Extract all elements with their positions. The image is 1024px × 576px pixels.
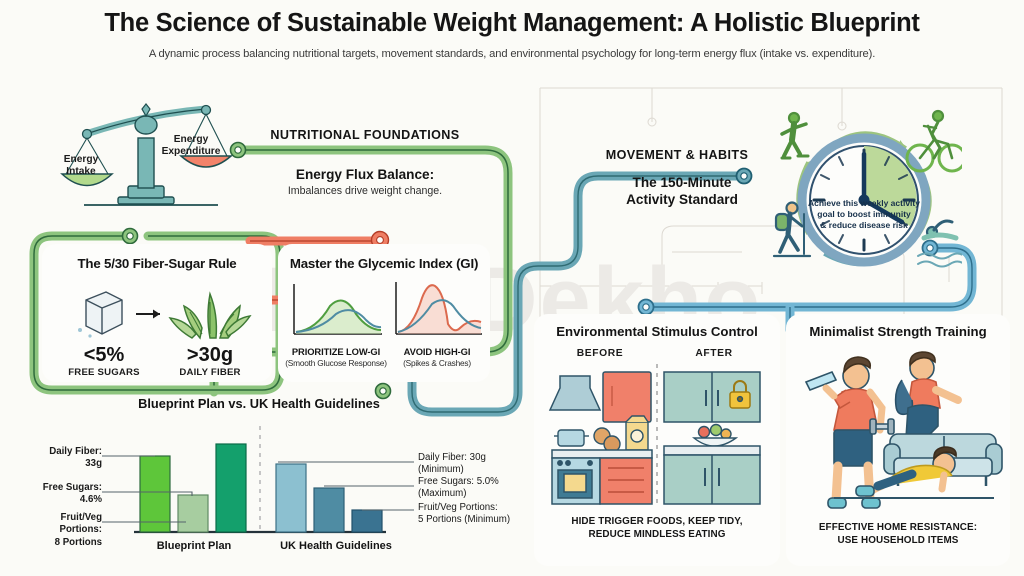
callout-blueprint-fruit-veg: Fruit/Veg Portions: 8 Portions — [16, 512, 102, 549]
fiber-sugar-rule-title: The 5/30 Fiber-Sugar Rule — [42, 256, 272, 271]
barchart-title: Blueprint Plan vs. UK Health Guidelines — [24, 396, 494, 411]
environmental-stimulus-control-panel[interactable]: Environmental Stimulus Control BEFORE AF… — [534, 314, 780, 566]
free-sugars-stat: <5% — [56, 344, 152, 367]
high-gi-caption: AVOID HIGH-GI — [386, 346, 488, 357]
callout-blueprint-fiber-line1: Daily Fiber: — [49, 446, 102, 457]
callout-uk-fruit-veg: Fruit/Veg Portions: 5 Portions (Minimum) — [418, 502, 530, 527]
energy-intake-label: Energy Intake — [48, 154, 114, 177]
stimulus-footer-line1: HIDE TRIGGER FOODS, KEEP TIDY, — [571, 516, 742, 527]
axis-label-blueprint-plan: Blueprint Plan — [136, 540, 252, 552]
callout-uk-free-sugars: Free Sugars: 5.0% (Maximum) — [418, 476, 524, 501]
clock-caption: Achieve this weekly activity goal to boo… — [794, 198, 934, 232]
minimalist-strength-training-panel[interactable]: Minimalist Strength Training — [786, 314, 1010, 566]
stimulus-panel-title: Environmental Stimulus Control — [534, 324, 780, 339]
callout-blueprint-sugars-line2: 4.6% — [80, 494, 102, 505]
stimulus-footer-line2: REDUCE MINDLESS EATING — [589, 529, 726, 540]
callout-blueprint-fruitveg-line1: Fruit/Veg Portions: — [59, 512, 102, 535]
energy-expenditure-label-line1: Energy — [174, 134, 209, 145]
strength-footer-line1: EFFECTIVE HOME RESISTANCE: — [819, 522, 977, 533]
activity-standard-line1: The 150-Minute — [633, 175, 732, 190]
after-label: AFTER — [664, 348, 764, 359]
daily-fiber-caption: DAILY FIBER — [160, 367, 260, 378]
fiber-sugar-rule-card[interactable]: The 5/30 Fiber-Sugar Rule — [42, 244, 272, 382]
clock-caption-line1: Achieve this weekly activity — [808, 198, 920, 208]
callout-blueprint-daily-fiber: Daily Fiber: 33g — [24, 446, 102, 471]
free-sugars-caption: FREE SUGARS — [56, 367, 152, 378]
strength-panel-footer: EFFECTIVE HOME RESISTANCE: USE HOUSEHOLD… — [796, 522, 1000, 548]
low-gi-subcaption: (Smooth Glucose Response) — [278, 358, 394, 368]
callout-uk-fruitveg-line2: 5 Portions (Minimum) — [418, 514, 510, 525]
callout-uk-fiber-line2: (Minimum) — [418, 464, 464, 475]
callout-blueprint-free-sugars: Free Sugars: 4.6% — [24, 482, 102, 507]
strength-panel-title: Minimalist Strength Training — [786, 324, 1010, 339]
callout-uk-sugars-line1: Free Sugars: 5.0% — [418, 476, 499, 487]
low-gi-caption: PRIORITIZE LOW-GI — [284, 346, 388, 357]
callout-uk-fruitveg-line1: Fruit/Veg Portions: — [418, 502, 498, 513]
axis-label-uk-guidelines: UK Health Guidelines — [260, 540, 412, 552]
before-label: BEFORE — [550, 348, 650, 359]
callout-blueprint-fiber-line2: 33g — [85, 458, 102, 469]
glycemic-index-title: Master the Glycemic Index (GI) — [278, 256, 490, 271]
high-gi-subcaption: (Spikes & Crashes) — [382, 358, 492, 368]
sugar-cube-to-greens-illustration — [60, 284, 256, 344]
callout-blueprint-sugars-line1: Free Sugars: — [43, 482, 102, 493]
comparison-bar-chart: Blueprint Plan vs. UK Health Guidelines — [24, 396, 494, 564]
activity-standard-line2: Activity Standard — [626, 192, 738, 207]
energy-expenditure-label: Energy Expenditure — [150, 134, 232, 157]
clock-caption-line3: & reduce disease risk — [820, 220, 907, 230]
energy-flux-balance-title: Energy Flux Balance: — [255, 167, 475, 184]
kitchen-before-after-illustration — [546, 364, 768, 509]
callout-uk-daily-fiber: Daily Fiber: 30g (Minimum) — [418, 452, 524, 477]
infographic-canvas: Diet Dekho The Science of Sustainable We… — [0, 0, 1024, 576]
energy-intake-label-line2: Intake — [66, 166, 95, 177]
strength-footer-line2: USE HOUSEHOLD ITEMS — [838, 535, 959, 546]
kicker-movement-habits: MOVEMENT & HABITS — [582, 148, 772, 162]
callout-uk-fiber-line1: Daily Fiber: 30g — [418, 452, 486, 463]
glycemic-index-card[interactable]: Master the Glycemic Index (GI) PRIORITIZ… — [278, 244, 490, 382]
clock-caption-line2: goal to boost immunity — [817, 209, 911, 219]
stimulus-panel-footer: HIDE TRIGGER FOODS, KEEP TIDY, REDUCE MI… — [546, 516, 768, 542]
energy-intake-label-line1: Energy — [64, 154, 99, 165]
daily-fiber-stat: >30g — [160, 344, 260, 367]
callout-blueprint-fruitveg-line2: 8 Portions — [55, 537, 102, 548]
home-resistance-illustration — [794, 346, 1004, 516]
low-gi-curve-chart — [286, 280, 386, 342]
high-gi-curve-chart — [388, 280, 486, 342]
energy-flux-balance-subtitle: Imbalances drive weight change. — [245, 185, 485, 197]
weekly-activity-clock-illustration — [766, 104, 962, 284]
energy-expenditure-label-line2: Expenditure — [162, 146, 221, 157]
kicker-nutritional-foundations: NUTRITIONAL FOUNDATIONS — [255, 128, 475, 142]
activity-standard-title: The 150-Minute Activity Standard — [592, 175, 772, 209]
callout-uk-sugars-line2: (Maximum) — [418, 488, 466, 499]
